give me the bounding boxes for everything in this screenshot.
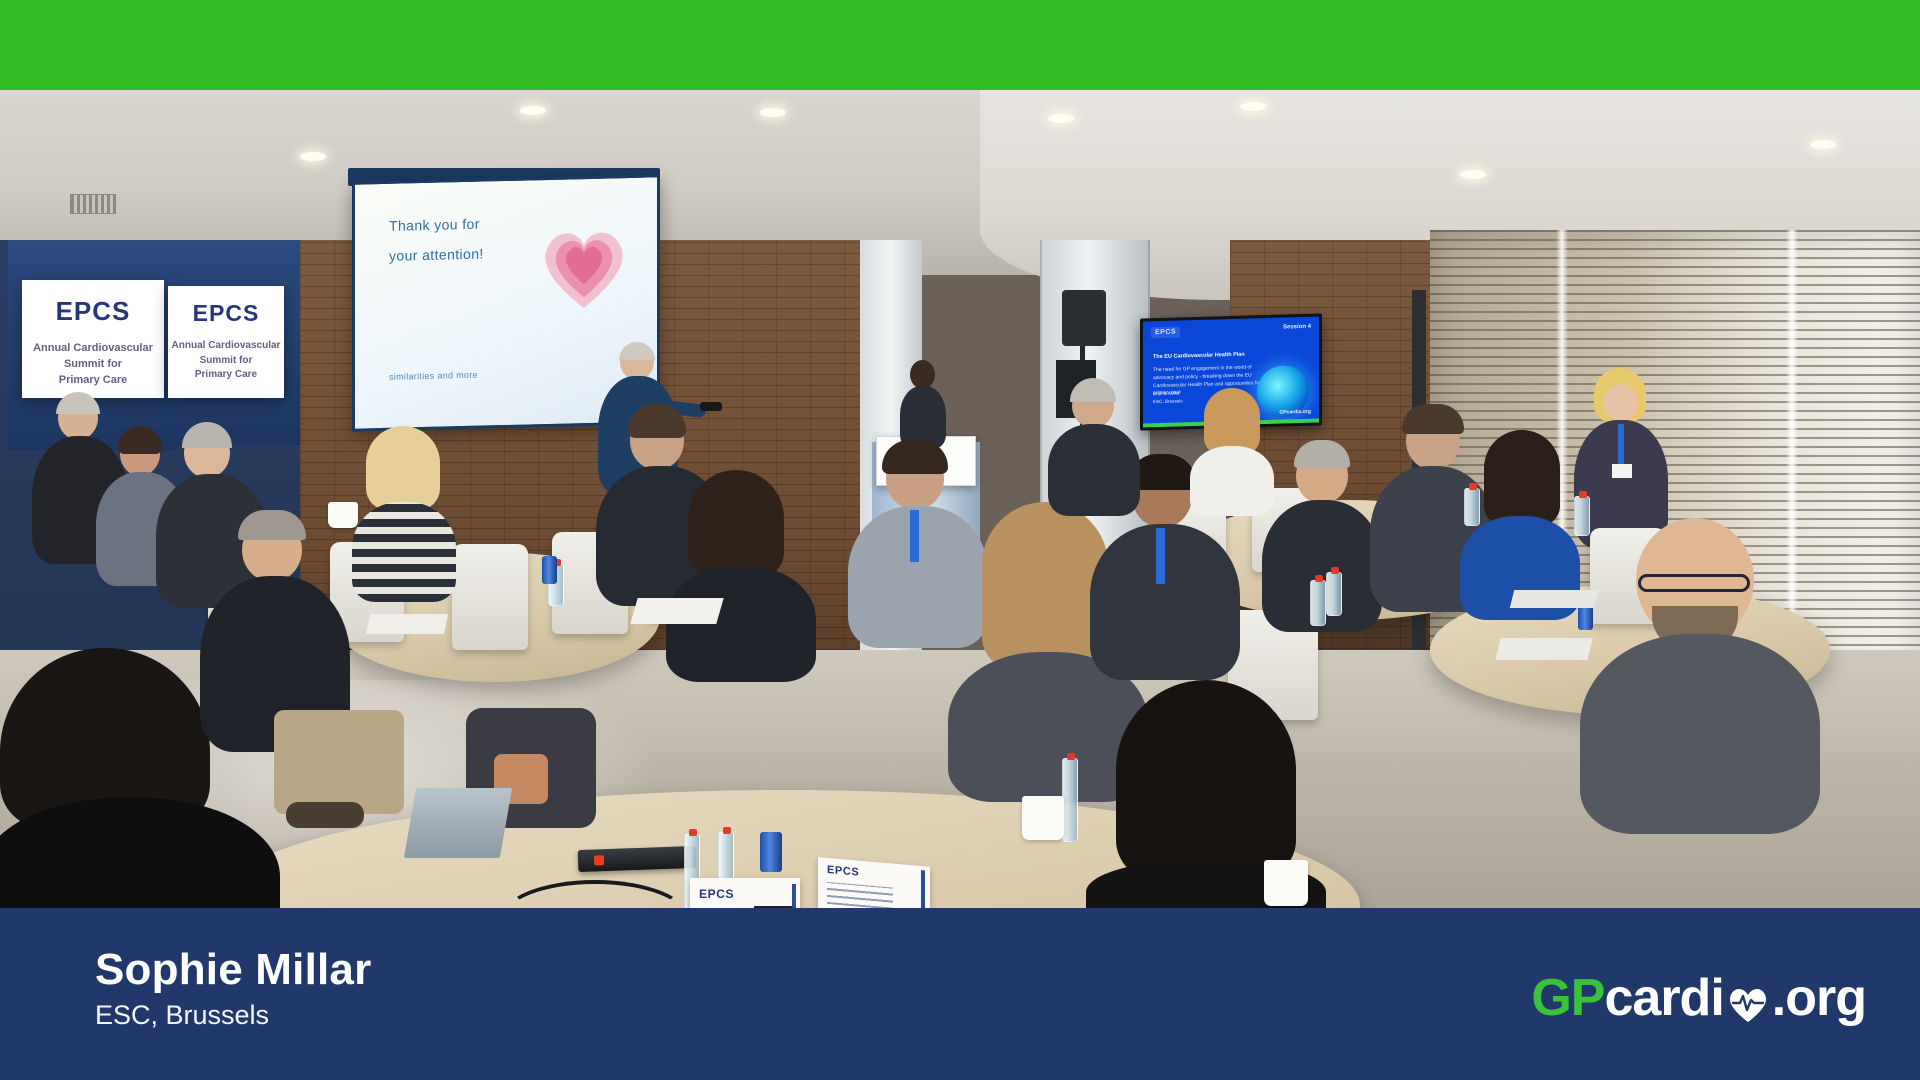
coffee-cup	[328, 502, 358, 528]
hair	[366, 426, 440, 510]
speaker-at-podium	[898, 360, 948, 446]
logo-text-gp: GP	[1531, 968, 1604, 1028]
water-bottle	[1310, 580, 1326, 626]
banner-subtitle-line3: Primary Care	[22, 373, 164, 389]
slide-line-3: similarities and more	[389, 370, 478, 382]
torso	[666, 566, 816, 682]
ceiling-downlight	[760, 108, 786, 117]
attendee	[1048, 384, 1140, 512]
tent-accent-bar	[921, 870, 925, 908]
ceiling-downlight	[1240, 102, 1266, 111]
torso	[1090, 524, 1240, 680]
top-green-bar	[0, 0, 1920, 90]
ceiling-downlight	[300, 152, 326, 161]
slide-title: The EU Cardiovascular Health Plan	[1153, 350, 1271, 362]
papers	[1495, 638, 1592, 660]
speaker-affiliation: ESC, Brussels	[95, 1000, 269, 1031]
remote	[700, 402, 722, 411]
torso	[352, 502, 456, 602]
session-label: Session 4	[1283, 324, 1311, 331]
head	[910, 360, 935, 389]
banner-subtitle-line2: Summit for	[22, 357, 164, 373]
epcs-logo: EPCS	[22, 296, 164, 327]
water-bottle	[1326, 572, 1342, 616]
slide-url: GPcardio.org	[1279, 409, 1311, 416]
tent-accent-bar	[792, 884, 796, 908]
attendee	[352, 426, 456, 596]
glasses-icon	[1638, 574, 1750, 592]
papers	[1510, 590, 1598, 608]
epcs-logo: EPCS	[1151, 326, 1180, 338]
ceiling-downlight	[1048, 114, 1074, 123]
conference-room-photo: EPCS Annual Cardiovascular Summit for Pr…	[0, 90, 1920, 908]
power-led	[594, 855, 604, 865]
hair	[1116, 680, 1296, 880]
epcs-logo: EPCS	[699, 887, 734, 901]
banner-subtitle-line1: Annual Cardiovascular	[168, 339, 284, 354]
attendee-legs	[274, 710, 404, 814]
slide-author-affiliation: ESC, Brussels	[1153, 397, 1183, 405]
water-bottle	[1464, 488, 1480, 526]
table-tent-card-1: EPCS	[690, 878, 800, 908]
water-bottle	[1062, 758, 1078, 842]
torso	[1048, 424, 1140, 516]
attendee	[1580, 518, 1820, 818]
hair	[619, 342, 655, 360]
rollup-banner-2: EPCS Annual Cardiovascular Summit for Pr…	[168, 286, 284, 398]
badge	[1612, 464, 1632, 478]
hair	[1204, 388, 1260, 454]
logo-text-cardi: cardi	[1604, 968, 1723, 1028]
head	[1604, 384, 1638, 422]
ceiling-downlight	[1810, 140, 1836, 149]
lanyard	[910, 510, 919, 562]
chair	[452, 544, 528, 650]
coffee-cup	[1022, 796, 1064, 840]
video-frame: EPCS Annual Cardiovascular Summit for Pr…	[0, 0, 1920, 1080]
notebook	[630, 598, 723, 624]
banner-subtitle-line3: Primary Care	[168, 368, 284, 383]
drink-can	[760, 832, 782, 872]
torso	[1580, 634, 1820, 834]
gpcardio-logo[interactable]: GP cardi .org	[1531, 968, 1866, 1028]
power-strip	[578, 846, 697, 872]
ceiling-downlight	[1460, 170, 1486, 179]
ceiling-vent	[70, 194, 116, 214]
hair	[688, 470, 784, 578]
lanyard	[1156, 528, 1165, 584]
coffee-cup	[1264, 860, 1308, 906]
rollup-banner-1: EPCS Annual Cardiovascular Summit for Pr…	[22, 280, 164, 398]
logo-text-org: .org	[1772, 968, 1866, 1028]
hair	[1484, 430, 1560, 526]
attendee	[666, 470, 816, 670]
water-bottle	[1574, 496, 1590, 536]
speaker-name: Sophie Millar	[95, 945, 371, 995]
shoe	[286, 802, 364, 828]
pink-heart-illustration-icon	[529, 212, 639, 323]
drink-can	[542, 556, 557, 584]
laptop	[404, 788, 512, 858]
epcs-logo: EPCS	[168, 300, 284, 327]
banner-subtitle-line1: Annual Cardiovascular	[22, 341, 164, 357]
av-speaker-stand	[1062, 290, 1106, 346]
lanyard	[1618, 424, 1624, 468]
banner-subtitle-line2: Summit for	[168, 354, 284, 369]
torso	[0, 798, 280, 908]
torso	[900, 386, 946, 448]
heart-ecg-icon	[1725, 979, 1771, 1025]
ceiling-downlight	[520, 106, 546, 115]
epcs-logo: EPCS	[827, 864, 859, 879]
hair	[56, 392, 100, 414]
tent-card-text	[827, 882, 893, 908]
table-tent-card-2: EPCS	[818, 857, 930, 908]
papers	[366, 614, 448, 634]
